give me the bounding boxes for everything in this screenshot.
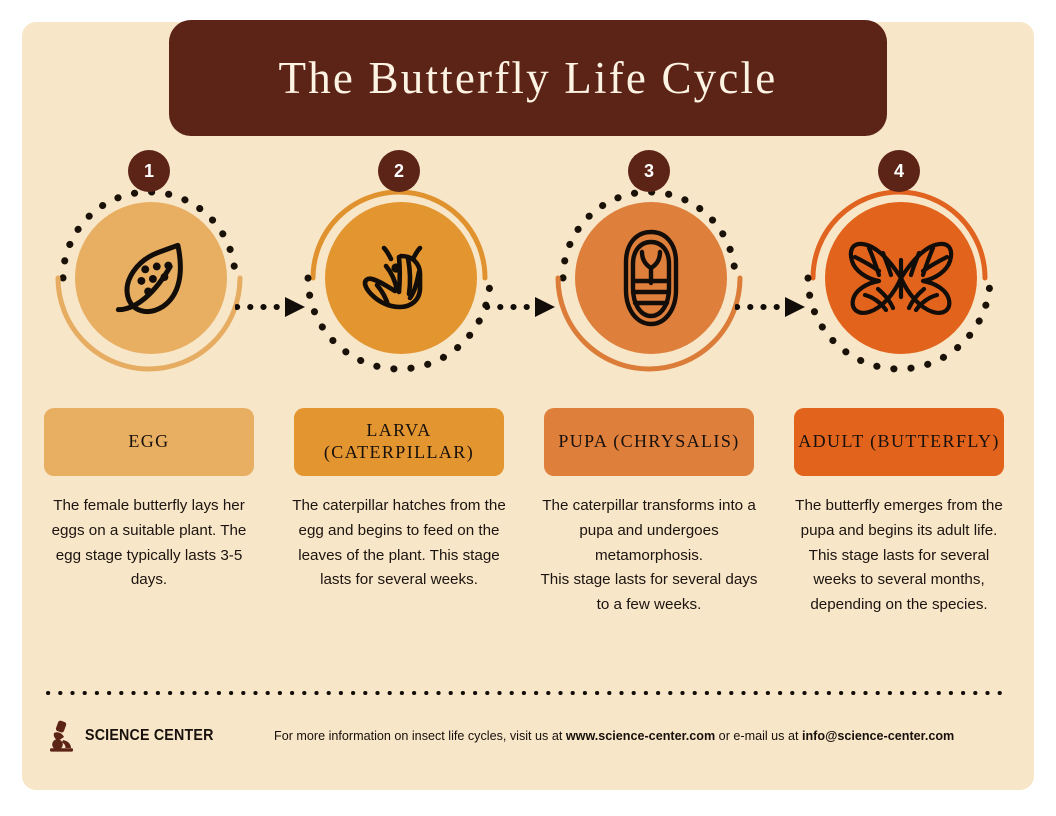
footer-note-lead: For more information on insect life cycl… <box>274 729 566 743</box>
stage-1[interactable]: 1 <box>24 162 274 412</box>
brand-block: SCIENCE CENTER <box>46 720 274 752</box>
stage-4-label[interactable]: ADULT (BUTTERFLY) <box>794 408 1004 476</box>
footer-email[interactable]: info@science-center.com <box>802 729 954 743</box>
stage-1-number-badge: 1 <box>128 150 170 192</box>
stage-2-label[interactable]: LARVA (CATERPILLAR) <box>294 408 504 476</box>
footer-website[interactable]: www.science-center.com <box>566 729 715 743</box>
stage-1-disc <box>75 202 227 354</box>
stage-3[interactable]: 3 <box>524 162 774 412</box>
title-banner: The Butterfly Life Cycle <box>169 20 887 136</box>
stage-1-description: The female butterfly lays her eggs on a … <box>40 494 258 593</box>
leaf-with-eggs-icon <box>103 230 199 326</box>
footer-divider <box>46 682 1010 686</box>
brand-name: SCIENCE CENTER <box>85 727 214 745</box>
stage-4-disc <box>825 202 977 354</box>
stage-4[interactable]: 4 <box>774 162 1024 412</box>
stage-3-disc <box>575 202 727 354</box>
footer-note-mid: or e-mail us at <box>715 729 802 743</box>
infographic-poster: The Butterfly Life Cycle <box>22 22 1034 790</box>
chrysalis-icon <box>618 228 684 328</box>
stage-3-description: The caterpillar transforms into a pupa a… <box>540 494 758 618</box>
stage-2-disc <box>325 202 477 354</box>
stage-1-label[interactable]: EGG <box>44 408 254 476</box>
stage-2-number-badge: 2 <box>378 150 420 192</box>
stage-4-description: The butterfly emerges from the pupa and … <box>790 494 1008 618</box>
butterfly-icon <box>845 235 957 321</box>
footer: SCIENCE CENTER For more information on i… <box>46 712 1010 760</box>
footer-contact-note: For more information on insect life cycl… <box>274 729 954 743</box>
stage-2[interactable]: 2 <box>274 162 524 412</box>
microscope-icon <box>46 720 76 752</box>
stage-4-number-badge: 4 <box>878 150 920 192</box>
page-title: The Butterfly Life Cycle <box>279 52 778 104</box>
caterpillar-icon <box>351 228 451 328</box>
stage-3-label[interactable]: PUPA (CHRYSALIS) <box>544 408 754 476</box>
stage-3-number-badge: 3 <box>628 150 670 192</box>
stage-description-row: The female butterfly lays her eggs on a … <box>22 494 1034 664</box>
stage-2-description: The caterpillar hatches from the egg and… <box>290 494 508 593</box>
stage-circle-row: 1 <box>22 162 1034 412</box>
stage-label-row: EGG LARVA (CATERPILLAR) PUPA (CHRYSALIS)… <box>22 408 1034 480</box>
